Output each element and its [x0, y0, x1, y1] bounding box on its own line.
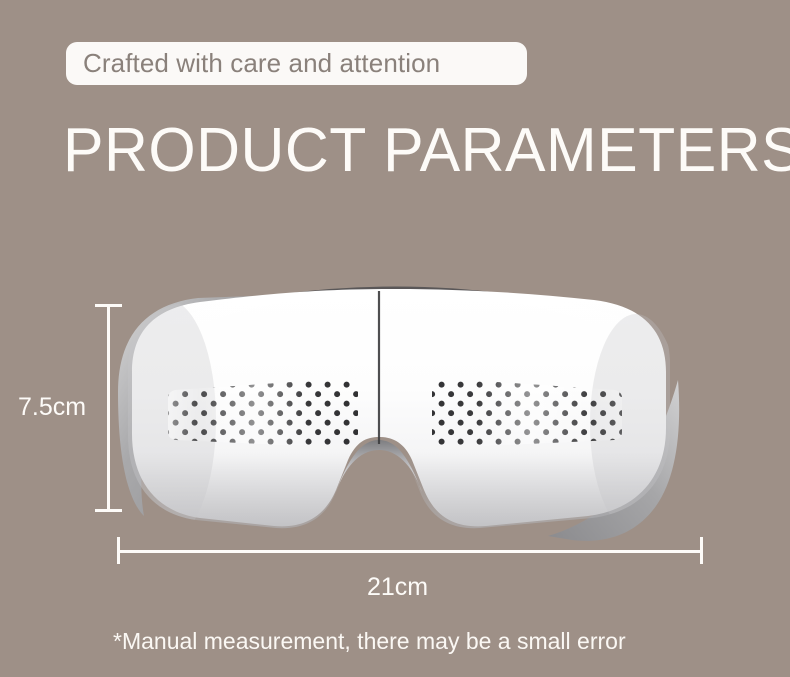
dimension-height-line — [107, 305, 110, 511]
dimension-width-label: 21cm — [367, 573, 428, 602]
tagline-pill: Crafted with care and attention — [66, 42, 527, 85]
vent-panel-left — [150, 368, 370, 460]
dimension-height-cap-bottom — [95, 509, 122, 512]
measurement-footnote: *Manual measurement, there may be a smal… — [113, 628, 626, 655]
product-body — [132, 289, 666, 526]
product-right-arm — [548, 380, 679, 541]
dimension-width-cap-right — [700, 537, 703, 564]
product-top-trim — [172, 288, 650, 330]
dimension-height-cap-top — [95, 304, 122, 307]
product-left-shadow — [120, 300, 216, 540]
dimension-height-label: 7.5cm — [18, 393, 86, 422]
product-top-sheen — [150, 290, 652, 362]
product-parameters-banner: Crafted with care and attention PRODUCT … — [0, 0, 790, 677]
dimension-width-cap-left — [117, 537, 120, 564]
tagline-text: Crafted with care and attention — [83, 48, 440, 79]
vent-panel-right — [420, 368, 640, 460]
product-bottom-shade — [120, 452, 680, 552]
product-right-shadow — [590, 314, 682, 534]
product-left-arm — [118, 296, 252, 516]
product-nose-bridge-rim — [336, 440, 422, 492]
page-title: PRODUCT PARAMETERS — [63, 116, 790, 186]
dimension-width-line — [117, 550, 703, 553]
